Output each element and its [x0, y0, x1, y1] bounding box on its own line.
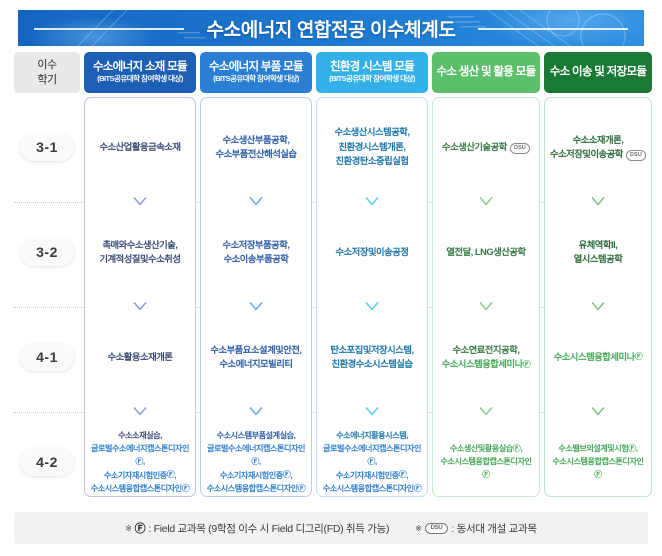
chevron-down-icon [250, 407, 263, 417]
field-degree-icon: Ⓕ [135, 520, 146, 536]
cell-band: 유체역학II,열시스템공학 [544, 202, 652, 302]
field-degree-icon: Ⓕ [482, 471, 490, 479]
course-line: 수소소재개론, [550, 133, 646, 147]
course-line: 친환경시스템개론, [334, 140, 409, 154]
column-header-module-parts[interactable]: 수소에너지 부품 모듈 (BITS공유대학 참여학생 대상) [200, 52, 312, 93]
course-line: 수소소재실습, [89, 429, 191, 442]
course-list: 탄소포집및저장시스템,친환경수소시스템실습 [330, 343, 413, 372]
course-line: 수소이송부품공학 [223, 252, 290, 266]
course-cell[interactable]: 수소시스템부품설계실습,글로벌수소에너지캡스톤디자인Ⓕ,수소기자재시험인증Ⓕ,수… [200, 412, 312, 512]
column-header-title: 수소에너지 소재 모듈 [93, 61, 187, 74]
course-line: 수소시스템융합캡스톤디자인Ⓕ [89, 482, 191, 495]
course-line: 친환경수소시스템실습 [330, 357, 413, 371]
course-cell[interactable]: 수소소재개론,수소저장및이송공학 DSU [544, 97, 652, 197]
course-line: 수소시스템융합세미나Ⓕ [554, 350, 643, 364]
course-line: 글로벌수소에너지캡스톤디자인Ⓕ, [205, 442, 307, 468]
course-cell[interactable]: 촉매와수소생산기술,기계적성질및수소취성 [84, 202, 196, 302]
course-cell[interactable]: 수소저장부품공학,수소이송부품공학 [200, 202, 312, 302]
cell-band: 수소생산기술공학 DSU [432, 97, 540, 197]
column-header-label-line1: 이수 [37, 58, 56, 73]
course-line: 열전달, LNG생산공학 [446, 245, 525, 259]
column-header-title: 수소에너지 부품 모듈 [209, 61, 303, 74]
column-header-title: 친환경 시스템 모듈 [330, 61, 414, 74]
column-header-module-transport-storage[interactable]: 수소 이송 및 저장모듈 [544, 52, 652, 93]
course-cell[interactable]: 수소시스템융합세미나Ⓕ [544, 307, 652, 407]
cell-band: 수소소재개론,수소저장및이송공학 DSU [544, 97, 652, 197]
column-header-module-production[interactable]: 수소 생산 및 활용 모듈 [432, 52, 540, 93]
cell-band: 수소저장부품공학,수소이송부품공학 [200, 202, 312, 302]
chevron-down-icon [134, 197, 147, 207]
chevron-down-icon [134, 197, 147, 207]
semester-band-3-2: 3-2 [14, 202, 80, 302]
course-cell[interactable]: 유체역학II,열시스템공학 [544, 202, 652, 302]
chevron-down-icon [250, 302, 263, 312]
course-cell[interactable]: 열전달, LNG생산공학 [432, 202, 540, 302]
semester-band-3-1: 3-1 [14, 97, 80, 197]
course-line: 수소생산기술공학 DSU [442, 140, 530, 154]
cell-band: 수소생산시스템공학,친환경시스템개론,친환경탄소중립실험 [316, 97, 428, 197]
chevron-down-icon [250, 197, 263, 207]
field-degree-icon: Ⓕ [513, 445, 521, 453]
field-degree-icon: Ⓕ [298, 485, 306, 493]
semester-pill-4-1: 4-1 [20, 343, 74, 371]
field-degree-icon: Ⓕ [399, 471, 407, 479]
course-line: 수소생산부품공학, [215, 133, 296, 147]
course-line: 수소시스템융합캡스톤디자인Ⓕ [205, 482, 307, 495]
course-line: 수소저장및이송공학 DSU [550, 147, 646, 161]
curriculum-roadmap-page: 수소에너지 연합전공 이수체계도 이수 학기 3-1 3-2 4-1 4-2 [0, 0, 662, 556]
course-list: 수소밸브외설계및시험Ⓕ,수소시스템융합캡스톤디자인Ⓕ [549, 442, 647, 481]
course-line: 수소생산및활용실습Ⓕ, [437, 442, 535, 455]
cell-band: 수소에너지활용시스템,글로벌수소에너지캡스톤디자인Ⓕ,수소기자재시험인증Ⓕ,수소… [316, 412, 428, 512]
page-title: 수소에너지 연합전공 이수체계도 [193, 15, 470, 42]
column-header-subtitle: (BITS공유대학 참여학생 대상) [97, 75, 183, 84]
column-module-production: 수소 생산 및 활용 모듈 수소생산기술공학 DSU 열전달, LNG생산공학 … [432, 52, 540, 502]
chevron-down-icon [592, 302, 605, 312]
legend-bar: ※ Ⓕ : Field 교과목 (9학점 이수 시 Field 디그리(FD) … [14, 512, 648, 544]
semester-pill-4-2: 4-2 [20, 448, 74, 476]
course-list: 수소활용소재개론 [108, 350, 173, 364]
course-line: 수소산업활용금속소재 [99, 140, 180, 154]
chevron-down-icon [480, 197, 493, 207]
course-line: 수소시스템부품설계실습, [205, 429, 307, 442]
chevron-down-icon [134, 407, 147, 417]
legend-item-dsu: ※ DSU : 동서대 개설 교과목 [415, 521, 537, 536]
cell-band: 촉매와수소생산기술,기계적성질및수소취성 [84, 202, 196, 302]
course-list: 수소산업활용금속소재 [99, 140, 180, 154]
column-header-label-line2: 학기 [37, 73, 56, 88]
cell-band: 수소생산및활용실습Ⓕ,수소시스템융합캡스톤디자인Ⓕ [432, 412, 540, 512]
course-line: 유체역학II, [574, 238, 623, 252]
field-degree-icon: Ⓕ [251, 458, 259, 466]
course-line: 글로벌수소에너지캡스톤디자인Ⓕ, [89, 442, 191, 468]
course-line: 글로벌수소에너지캡스톤디자인Ⓕ, [321, 442, 423, 468]
course-list: 수소생산부품공학,수소부품전산해석실습 [215, 133, 296, 162]
chevron-down-icon [480, 197, 493, 207]
chevron-down-icon [134, 302, 147, 312]
course-list: 수소연료전지공학,수소시스템융합세미나Ⓕ [442, 343, 531, 372]
semester-band-4-2: 4-2 [14, 412, 80, 512]
cell-band: 수소시스템융합세미나Ⓕ [544, 307, 652, 407]
chevron-down-icon [250, 197, 263, 207]
course-list: 수소저장및이송공정 [336, 245, 409, 259]
course-list: 수소생산시스템공학,친환경시스템개론,친환경탄소중립실험 [334, 125, 409, 168]
column-header-module-eco-system[interactable]: 친환경 시스템 모듈 (BITS공유대학 참여학생 대상) [316, 52, 428, 93]
chevron-down-icon [592, 197, 605, 207]
course-cell[interactable]: 수소연료전지공학,수소시스템융합세미나Ⓕ [432, 307, 540, 407]
course-line: 촉매와수소생산기술, [99, 238, 180, 252]
course-cell[interactable]: 수소부품요소설계및안전,수소에너지모빌리티 [200, 307, 312, 407]
chevron-down-icon [480, 302, 493, 312]
dsu-badge-icon: DSU [425, 523, 449, 534]
course-line: 수소밸브외설계및시험Ⓕ, [549, 442, 647, 455]
course-list: 수소소재실습,글로벌수소에너지캡스톤디자인Ⓕ,수소기자재시험인증Ⓕ,수소시스템융… [89, 429, 191, 495]
curriculum-grid: 이수 학기 3-1 3-2 4-1 4-2 수소에너지 소재 모듈 (BITS공… [0, 52, 662, 502]
course-line: 수소기자재시험인증Ⓕ, [89, 469, 191, 482]
page-title-banner: 수소에너지 연합전공 이수체계도 [18, 10, 644, 46]
column-semester: 이수 학기 3-1 3-2 4-1 4-2 [14, 52, 80, 502]
column-header-subtitle: (BITS공유대학 참여학생 대상) [329, 75, 415, 84]
course-line: 수소연료전지공학, [442, 343, 531, 357]
course-line: 열시스템공학 [574, 252, 623, 266]
course-line: 수소시스템융합캡스톤디자인Ⓕ [549, 455, 647, 481]
course-line: 수소부품요소설계및안전, [210, 343, 301, 357]
chevron-down-icon [480, 407, 493, 417]
chevron-down-icon [592, 302, 605, 312]
course-cell[interactable]: 수소생산부품공학,수소부품전산해석실습 [200, 97, 312, 197]
column-header-title: 수소 이송 및 저장모듈 [550, 66, 646, 79]
column-module-parts: 수소에너지 부품 모듈 (BITS공유대학 참여학생 대상) 수소생산부품공학,… [200, 52, 312, 502]
chevron-down-icon [366, 407, 379, 417]
column-header-title: 수소 생산 및 활용 모듈 [437, 66, 536, 79]
course-cell[interactable]: 수소밸브외설계및시험Ⓕ,수소시스템융합캡스톤디자인Ⓕ [544, 412, 652, 512]
chevron-down-icon [134, 407, 147, 417]
chevron-down-icon [250, 302, 263, 312]
legend-text: : Field 교과목 (9학점 이수 시 Field 디그리(FD) 취득 가… [148, 521, 389, 536]
course-list: 수소생산기술공학 DSU [442, 140, 530, 154]
field-degree-icon: Ⓕ [367, 458, 375, 466]
field-degree-icon: Ⓕ [628, 445, 636, 453]
course-line: 수소생산시스템공학, [334, 125, 409, 139]
chevron-down-icon [366, 302, 379, 312]
cell-band: 수소시스템부품설계실습,글로벌수소에너지캡스톤디자인Ⓕ,수소기자재시험인증Ⓕ,수… [200, 412, 312, 512]
cell-band: 수소부품요소설계및안전,수소에너지모빌리티 [200, 307, 312, 407]
cell-band: 수소저장및이송공정 [316, 202, 428, 302]
course-line: 기계적성질및수소취성 [99, 252, 180, 266]
field-degree-icon: Ⓕ [594, 471, 602, 479]
course-cell[interactable]: 탄소포집및저장시스템,친환경수소시스템실습 [316, 307, 428, 407]
semester-pill-3-1: 3-1 [20, 133, 74, 161]
course-list: 촉매와수소생산기술,기계적성질및수소취성 [99, 238, 180, 267]
course-line: 수소시스템융합캡스톤디자인Ⓕ [437, 455, 535, 481]
field-degree-icon: Ⓕ [635, 353, 643, 361]
dsu-badge-icon: DSU [510, 143, 530, 154]
course-cell[interactable]: 수소산업활용금속소재 [84, 97, 196, 197]
course-line: 수소활용소재개론 [108, 350, 173, 364]
course-cell[interactable]: 수소생산기술공학 DSU [432, 97, 540, 197]
course-list: 수소소재개론,수소저장및이송공학 DSU [550, 133, 646, 162]
semester-pill-3-2: 3-2 [20, 238, 74, 266]
cell-band: 수소밸브외설계및시험Ⓕ,수소시스템융합캡스톤디자인Ⓕ [544, 412, 652, 512]
field-degree-icon: Ⓕ [182, 485, 190, 493]
course-list: 수소시스템융합세미나Ⓕ [554, 350, 643, 364]
course-list: 수소저장부품공학,수소이송부품공학 [223, 238, 290, 267]
course-line: 수소시스템융합세미나Ⓕ [442, 357, 531, 371]
course-line: 친환경탄소중립실험 [334, 154, 409, 168]
course-list: 수소시스템부품설계실습,글로벌수소에너지캡스톤디자인Ⓕ,수소기자재시험인증Ⓕ,수… [205, 429, 307, 495]
field-degree-icon: Ⓕ [167, 471, 175, 479]
chevron-down-icon [250, 407, 263, 417]
chevron-down-icon [366, 197, 379, 207]
column-module-material: 수소에너지 소재 모듈 (BITS공유대학 참여학생 대상) 수소산업활용금속소… [84, 52, 196, 502]
field-degree-icon: Ⓕ [523, 361, 531, 369]
chevron-down-icon [592, 407, 605, 417]
cell-band: 수소생산부품공학,수소부품전산해석실습 [200, 97, 312, 197]
legend-item-field: ※ Ⓕ : Field 교과목 (9학점 이수 시 Field 디그리(FD) … [125, 520, 389, 536]
chevron-down-icon [592, 407, 605, 417]
chevron-down-icon [480, 302, 493, 312]
course-line: 수소기자재시험인증Ⓕ, [205, 469, 307, 482]
chevron-down-icon [366, 197, 379, 207]
chevron-down-icon [480, 407, 493, 417]
column-header-subtitle: (BITS공유대학 참여학생 대상) [213, 75, 299, 84]
field-degree-icon: Ⓕ [283, 471, 291, 479]
course-line: 탄소포집및저장시스템, [330, 343, 413, 357]
course-line: 수소에너지모빌리티 [210, 357, 301, 371]
cell-band: 수소소재실습,글로벌수소에너지캡스톤디자인Ⓕ,수소기자재시험인증Ⓕ,수소시스템융… [84, 412, 196, 512]
chevron-down-icon [366, 407, 379, 417]
dsu-badge-icon: DSU [626, 150, 646, 161]
course-line: 수소에너지활용시스템, [321, 429, 423, 442]
cell-band: 수소활용소재개론 [84, 307, 196, 407]
column-header-semester: 이수 학기 [14, 52, 80, 93]
semester-band-4-1: 4-1 [14, 307, 80, 407]
column-module-transport-storage: 수소 이송 및 저장모듈 수소소재개론,수소저장및이송공학 DSU 유체역학II… [544, 52, 652, 502]
course-line: 수소저장및이송공정 [336, 245, 409, 259]
cell-band: 탄소포집및저장시스템,친환경수소시스템실습 [316, 307, 428, 407]
legend-star-icon: ※ [125, 524, 131, 533]
course-cell[interactable]: 수소생산및활용실습Ⓕ,수소시스템융합캡스톤디자인Ⓕ [432, 412, 540, 512]
chevron-down-icon [134, 302, 147, 312]
cell-band: 수소산업활용금속소재 [84, 97, 196, 197]
field-degree-icon: Ⓕ [135, 458, 143, 466]
column-module-eco-system: 친환경 시스템 모듈 (BITS공유대학 참여학생 대상) 수소생산시스템공학,… [316, 52, 428, 502]
course-list: 유체역학II,열시스템공학 [574, 238, 623, 267]
course-cell[interactable]: 수소활용소재개론 [84, 307, 196, 407]
cell-band: 수소연료전지공학,수소시스템융합세미나Ⓕ [432, 307, 540, 407]
course-cell[interactable]: 수소소재실습,글로벌수소에너지캡스톤디자인Ⓕ,수소기자재시험인증Ⓕ,수소시스템융… [84, 412, 196, 512]
course-cell[interactable]: 수소저장및이송공정 [316, 202, 428, 302]
legend-text: : 동서대 개설 교과목 [451, 521, 536, 536]
course-cell[interactable]: 수소생산시스템공학,친환경시스템개론,친환경탄소중립실험 [316, 97, 428, 197]
chevron-down-icon [366, 302, 379, 312]
chevron-down-icon [592, 197, 605, 207]
course-line: 수소부품전산해석실습 [215, 147, 296, 161]
course-list: 수소에너지활용시스템,글로벌수소에너지캡스톤디자인Ⓕ,수소기자재시험인증Ⓕ,수소… [321, 429, 423, 495]
legend-star-icon: ※ [415, 524, 421, 533]
course-cell[interactable]: 수소에너지활용시스템,글로벌수소에너지캡스톤디자인Ⓕ,수소기자재시험인증Ⓕ,수소… [316, 412, 428, 512]
field-degree-icon: Ⓕ [414, 485, 422, 493]
course-line: 수소기자재시험인증Ⓕ, [321, 469, 423, 482]
cell-band: 열전달, LNG생산공학 [432, 202, 540, 302]
column-header-module-material[interactable]: 수소에너지 소재 모듈 (BITS공유대학 참여학생 대상) [84, 52, 196, 93]
course-line: 수소시스템융합캡스톤디자인Ⓕ [321, 482, 423, 495]
course-list: 열전달, LNG생산공학 [446, 245, 525, 259]
course-line: 수소저장부품공학, [223, 238, 290, 252]
course-list: 수소부품요소설계및안전,수소에너지모빌리티 [210, 343, 301, 372]
course-list: 수소생산및활용실습Ⓕ,수소시스템융합캡스톤디자인Ⓕ [437, 442, 535, 481]
